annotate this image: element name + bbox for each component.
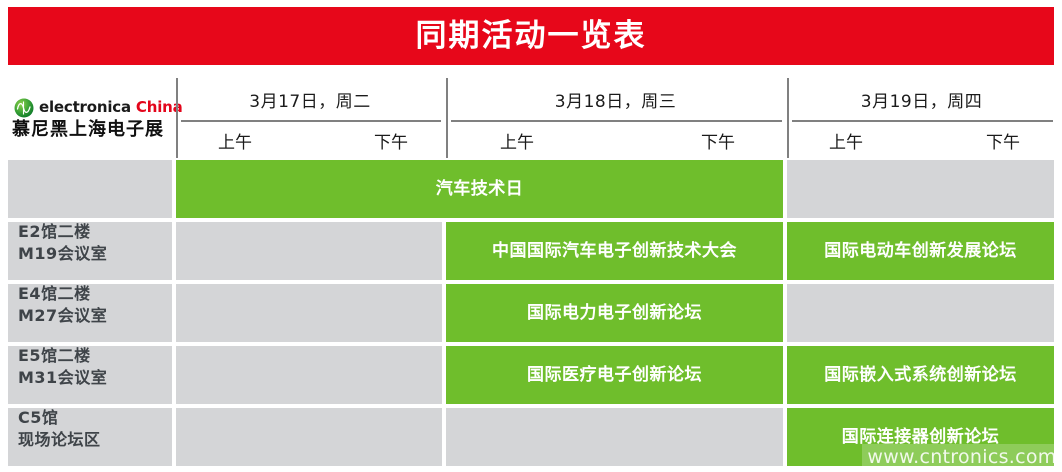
day-header-3: 3月19日，周四 上午 下午 (787, 78, 1054, 158)
schedule-grid: 汽车技术日E2馆二楼M19会议室中国国际汽车电子创新技术大会国际电动车创新发展论… (0, 160, 1062, 470)
venue-line: 现场论坛区 (18, 430, 101, 450)
empty-cell (787, 160, 1054, 218)
table-row: E2馆二楼M19会议室中国国际汽车电子创新技术大会国际电动车创新发展论坛 (0, 222, 1062, 284)
event-cell[interactable]: 国际嵌入式系统创新论坛 (787, 346, 1054, 404)
day-morning-1: 上午 (218, 128, 252, 153)
venue-cell (8, 160, 172, 218)
day-header-1: 3月17日，周二 上午 下午 (176, 78, 442, 158)
empty-cell (176, 408, 442, 466)
page-title: 同期活动一览表 (416, 21, 647, 52)
venue-cell: E5馆二楼M31会议室 (8, 346, 172, 404)
day-afternoon-1: 下午 (374, 128, 408, 153)
venue-line: E4馆二楼 (18, 284, 91, 304)
venue-line: E2馆二楼 (18, 222, 91, 242)
brand-subtitle: 慕尼黑上海电子展 (8, 121, 172, 139)
day-date-2: 3月18日，周三 (448, 78, 783, 120)
venue-cell: C5馆现场论坛区 (8, 408, 172, 466)
brand-logo: electronica China 慕尼黑上海电子展 (8, 78, 172, 158)
venue-line: M27会议室 (18, 306, 107, 326)
event-label: 汽车技术日 (436, 179, 524, 199)
venue-line: E5馆二楼 (18, 346, 91, 366)
venue-cell: E4馆二楼M27会议室 (8, 284, 172, 342)
empty-cell (787, 284, 1054, 342)
day-period-row-2: 上午 下午 (448, 122, 783, 158)
table-row: 汽车技术日 (0, 160, 1062, 222)
day-period-row-3: 上午 下午 (789, 122, 1054, 158)
venue-line: C5馆 (18, 408, 58, 428)
event-cell[interactable]: 汽车技术日 (176, 160, 783, 218)
event-cell[interactable]: 中国国际汽车电子创新技术大会 (446, 222, 783, 280)
electronica-sphere-icon (14, 98, 34, 118)
table-row: E4馆二楼M27会议室国际电力电子创新论坛 (0, 284, 1062, 346)
event-label: 国际医疗电子创新论坛 (527, 365, 702, 385)
brand-wordmark: electronica China (39, 100, 183, 115)
day-morning-2: 上午 (500, 128, 534, 153)
event-label: 中国国际汽车电子创新技术大会 (492, 241, 737, 261)
title-banner: 同期活动一览表 (8, 7, 1054, 65)
day-morning-3: 上午 (829, 128, 863, 153)
event-label: 国际电动车创新发展论坛 (824, 241, 1017, 261)
venue-cell: E2馆二楼M19会议室 (8, 222, 172, 280)
day-afternoon-3: 下午 (986, 128, 1020, 153)
day-date-1: 3月17日，周二 (178, 78, 442, 120)
venue-line: M19会议室 (18, 244, 107, 264)
watermark-text: www.cntronics.com (867, 448, 1056, 467)
brand-logo-row: electronica China (8, 98, 172, 118)
brand-name-primary: electronica (39, 98, 131, 116)
venue-line: M31会议室 (18, 368, 107, 388)
empty-cell (176, 346, 442, 404)
event-label: 国际嵌入式系统创新论坛 (824, 365, 1017, 385)
day-period-row-1: 上午 下午 (178, 122, 442, 158)
day-date-3: 3月19日，周四 (789, 78, 1054, 120)
event-cell[interactable]: 国际电力电子创新论坛 (446, 284, 783, 342)
table-header-band: electronica China 慕尼黑上海电子展 3月17日，周二 上午 下… (0, 78, 1062, 158)
empty-cell (176, 284, 442, 342)
watermark: www.cntronics.com (862, 444, 1062, 470)
day-afternoon-2: 下午 (701, 128, 735, 153)
empty-cell (176, 222, 442, 280)
event-cell[interactable]: 国际电动车创新发展论坛 (787, 222, 1054, 280)
table-row: E5馆二楼M31会议室国际医疗电子创新论坛国际嵌入式系统创新论坛 (0, 346, 1062, 408)
event-label: 国际电力电子创新论坛 (527, 303, 702, 323)
day-header-2: 3月18日，周三 上午 下午 (446, 78, 783, 158)
event-cell[interactable]: 国际医疗电子创新论坛 (446, 346, 783, 404)
empty-cell (446, 408, 783, 466)
schedule-poster: 同期活动一览表 electr (0, 0, 1062, 472)
